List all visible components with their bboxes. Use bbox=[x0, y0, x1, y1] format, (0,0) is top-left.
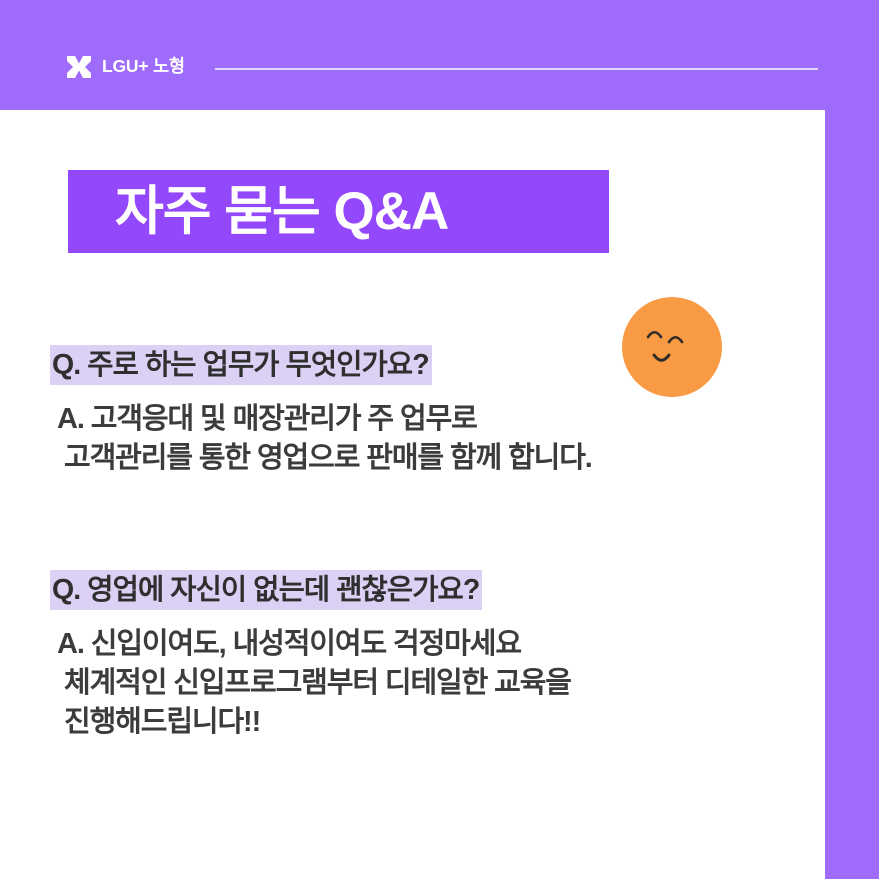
page-title: 자주 묻는 Q&A bbox=[115, 185, 448, 238]
faq-question: Q. 주로 하는 업무가 무엇인가요? bbox=[50, 345, 432, 385]
lgu-x-mark-icon bbox=[66, 55, 92, 79]
title-banner: 자주 묻는 Q&A bbox=[68, 170, 609, 253]
brand-name: LGU+ 노형 bbox=[102, 58, 185, 76]
faq-item: Q. 주로 하는 업무가 무엇인가요? A. 고객응대 및 매장관리가 주 업무… bbox=[50, 345, 592, 478]
header-divider bbox=[215, 68, 818, 70]
faq-question: Q. 영업에 자신이 없는데 괜찮은가요? bbox=[50, 570, 482, 610]
brand-lockup: LGU+ 노형 bbox=[66, 53, 185, 81]
smiling-face-icon bbox=[622, 297, 722, 397]
faq-item: Q. 영업에 자신이 없는데 괜찮은가요? A. 신입이여도, 내성적이여도 걱… bbox=[50, 570, 571, 741]
right-accent-rail bbox=[825, 0, 879, 879]
faq-answer: A. 신입이여도, 내성적이여도 걱정마세요 체계적인 신입프로그램부터 디테일… bbox=[57, 625, 571, 741]
faq-card: LGU+ 노형 자주 묻는 Q&A Q. 주로 하는 업무가 무엇인가요? A.… bbox=[0, 0, 879, 879]
faq-answer: A. 고객응대 및 매장관리가 주 업무로 고객관리를 통한 영업으로 판매를 … bbox=[57, 400, 592, 477]
